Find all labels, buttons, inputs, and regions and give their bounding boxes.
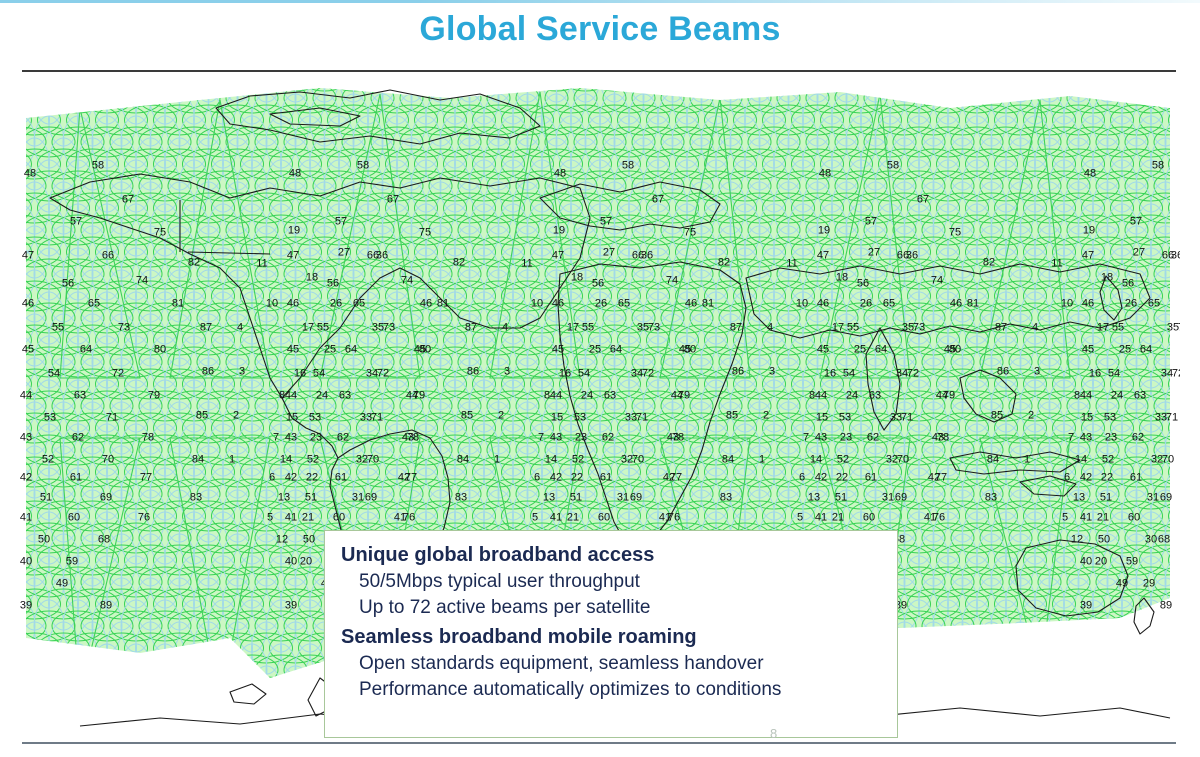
beam-number: 17 [832,323,844,334]
beam-number: 47 [1082,251,1094,262]
beam-number: 22 [836,473,848,484]
beam-number: 71 [371,413,383,424]
beam-number: 1 [229,455,235,466]
beam-number: 62 [602,433,614,444]
beam-number: 52 [307,455,319,466]
beam-number: 46 [950,299,962,310]
beam-number: 14 [1075,455,1087,466]
beam-number: 42 [285,473,297,484]
beam-number: 40 [285,557,297,568]
beam-number: 78 [142,433,154,444]
beam-number: 27 [868,248,880,259]
beam-number: 23 [1105,433,1117,444]
beam-number: 82 [453,258,465,269]
beam-number: 47 [287,251,299,262]
beam-number: 82 [188,258,200,269]
beam-number: 27 [1133,248,1145,259]
beam-number: 15 [816,413,828,424]
beam-number: 48 [554,169,566,180]
beam-number: 10 [531,299,543,310]
beam-number: 69 [1160,493,1172,504]
beam-number: 1 [1024,455,1030,466]
beam-number: 56 [857,279,869,290]
beam-number: 89 [1160,601,1172,612]
beam-number: 66 [102,251,114,262]
beam-number: 48 [289,169,301,180]
beam-number: 85 [991,411,1003,422]
beam-number: 69 [365,493,377,504]
beam-number: 4 [237,323,243,334]
beam-number: 27 [603,248,615,259]
beam-number: 69 [895,493,907,504]
beam-number: 63 [339,391,351,402]
beam-number: 12 [276,535,288,546]
beam-number: 53 [44,413,56,424]
beam-number: 14 [545,455,557,466]
beam-number: 48 [819,169,831,180]
beam-number: 7 [273,433,279,444]
beam-number: 71 [901,413,913,424]
beam-number: 75 [949,228,961,239]
beam-number: 70 [1162,455,1174,466]
beam-number: 16 [559,369,571,380]
beam-number: 31 [617,493,629,504]
beam-number: 6 [269,473,275,484]
beam-number: 73 [383,323,395,334]
beam-number: 41 [550,513,562,524]
beam-number: 48 [1084,169,1096,180]
beam-number: 62 [867,433,879,444]
beam-number: 54 [1108,369,1120,380]
beam-number: 86 [997,367,1009,378]
beam-number: 78 [407,433,419,444]
beam-number: 1 [494,455,500,466]
beam-number: 54 [313,369,325,380]
beam-number: 39 [1080,601,1092,612]
beam-number: 17 [567,323,579,334]
slide-root: Global Service Beams [0,0,1200,757]
beam-number: 82 [718,258,730,269]
beam-number: 7 [1068,433,1074,444]
beam-number: 57 [865,217,877,228]
beam-number: 31 [882,493,894,504]
beam-number: 56 [592,279,604,290]
beam-number: 74 [666,276,678,287]
beam-number: 65 [618,299,630,310]
beam-number: 57 [600,217,612,228]
beam-number: 42 [1080,473,1092,484]
beam-number: 45 [817,345,829,356]
beam-number: 67 [917,195,929,206]
beam-number: 3 [504,367,510,378]
beam-number: 21 [1097,513,1109,524]
beam-number: 63 [1134,391,1146,402]
beam-number: 55 [582,323,594,334]
beam-number: 73 [1178,323,1180,334]
beam-number: 62 [337,433,349,444]
beam-number: 72 [112,369,124,380]
beam-number: 19 [818,226,830,237]
beam-number: 26 [1125,299,1137,310]
beam-number: 87 [995,323,1007,334]
beam-number: 66 [1162,251,1174,262]
beam-number: 52 [837,455,849,466]
beam-number: 5 [267,513,273,524]
beam-number: 21 [832,513,844,524]
beam-number: 18 [1101,273,1113,284]
page-title: Global Service Beams [0,10,1200,49]
beam-number: 46 [22,299,34,310]
beam-number: 72 [642,369,654,380]
beam-number: 22 [571,473,583,484]
beam-number: 50 [38,535,50,546]
info-callout-box: Unique global broadband access 50/5Mbps … [324,530,898,738]
beam-number: 18 [836,273,848,284]
beam-number: 13 [543,493,555,504]
beam-number: 71 [636,413,648,424]
beam-number: 20 [300,557,312,568]
beam-number: 41 [285,513,297,524]
beam-number: 49 [56,579,68,590]
beam-number: 44 [1080,391,1092,402]
beam-number: 67 [387,195,399,206]
beam-number: 61 [600,473,612,484]
beam-number: 39 [285,601,297,612]
beam-number: 65 [883,299,895,310]
beam-number: 79 [148,391,160,402]
beam-number: 53 [839,413,851,424]
info-line-open-standards: Open standards equipment, seamless hando… [359,652,881,677]
beam-number: 17 [302,323,314,334]
beam-number: 26 [595,299,607,310]
beam-number: 58 [622,161,634,172]
beam-number: 75 [154,228,166,239]
beam-number: 20 [1095,557,1107,568]
beam-number: 10 [1061,299,1073,310]
beam-number: 58 [92,161,104,172]
beam-number: 42 [815,473,827,484]
beam-number: 43 [285,433,297,444]
beam-number: 3 [239,367,245,378]
beam-number: 52 [1102,455,1114,466]
beam-number: 57 [1130,217,1142,228]
beam-number: 52 [572,455,584,466]
beam-number: 81 [967,299,979,310]
beam-number: 56 [1122,279,1134,290]
beam-number: 74 [931,276,943,287]
beam-number: 54 [578,369,590,380]
beam-number: 14 [280,455,292,466]
beam-number: 51 [570,493,582,504]
beam-number: 78 [937,433,949,444]
beam-number: 47 [552,251,564,262]
beam-number: 70 [367,455,379,466]
beam-number: 84 [192,455,204,466]
beam-number: 86 [467,367,479,378]
beam-number: 81 [702,299,714,310]
beam-number: 59 [66,557,78,568]
beam-number: 56 [62,279,74,290]
info-line-active-beams: Up to 72 active beams per satellite [359,596,881,621]
beam-number: 47 [817,251,829,262]
beam-number: 57 [70,217,82,228]
beam-number: 16 [824,369,836,380]
beam-number: 62 [1132,433,1144,444]
beam-number: 59 [1126,557,1138,568]
beam-number: 43 [550,433,562,444]
top-accent-bar [0,0,1200,3]
beam-number: 21 [567,513,579,524]
beam-number: 87 [200,323,212,334]
beam-number: 60 [1128,513,1140,524]
beam-number: 11 [521,259,532,270]
beam-number: 64 [875,345,887,356]
beam-number: 60 [598,513,610,524]
beam-number: 11 [786,259,797,270]
beam-number: 6 [1064,473,1070,484]
beam-number: 74 [136,276,148,287]
beam-number: 72 [907,369,919,380]
beam-number: 64 [1140,345,1152,356]
page-number: 8 [770,726,777,741]
beam-number: 19 [553,226,565,237]
beam-number: 5 [1062,513,1068,524]
beam-number: 76 [403,513,415,524]
beam-number: 64 [80,345,92,356]
beam-number: 53 [309,413,321,424]
beam-number: 76 [138,513,150,524]
beam-number: 41 [1080,513,1092,524]
beam-number: 40 [20,557,32,568]
beam-number: 13 [278,493,290,504]
beam-number: 41 [20,513,32,524]
beam-number: 70 [102,455,114,466]
beam-number: 4 [767,323,773,334]
beam-number: 58 [357,161,369,172]
info-heading-mobile-roaming: Seamless broadband mobile roaming [341,625,881,650]
beam-number: 63 [869,391,881,402]
beam-number: 71 [106,413,118,424]
beam-number: 46 [552,299,564,310]
beam-number: 24 [1111,391,1123,402]
beam-number: 26 [860,299,872,310]
beam-number: 2 [233,411,239,422]
beam-number: 19 [1083,226,1095,237]
beam-number: 53 [1104,413,1116,424]
beam-number: 51 [835,493,847,504]
beam-number: 83 [985,493,997,504]
footer-divider [22,742,1176,744]
beam-number: 66 [632,251,644,262]
beam-number: 46 [420,299,432,310]
beam-number: 46 [685,299,697,310]
beam-number: 77 [405,473,417,484]
beam-number: 80 [419,345,431,356]
beam-number: 6 [799,473,805,484]
beam-number: 80 [684,345,696,356]
beam-number: 67 [122,195,134,206]
beam-number: 15 [286,413,298,424]
beam-number: 63 [74,391,86,402]
beam-number: 82 [983,258,995,269]
beam-number: 45 [287,345,299,356]
beam-number: 7 [538,433,544,444]
beam-number: 54 [48,369,60,380]
beam-number: 22 [306,473,318,484]
beam-number: 24 [846,391,858,402]
beam-number: 55 [847,323,859,334]
beam-number: 14 [810,455,822,466]
beam-number: 60 [333,513,345,524]
beam-number: 18 [571,273,583,284]
beam-number: 85 [196,411,208,422]
beam-number: 74 [401,276,413,287]
beam-number: 13 [1073,493,1085,504]
beam-number: 67 [652,195,664,206]
beam-number: 23 [575,433,587,444]
beam-number: 51 [305,493,317,504]
beam-number: 42 [20,473,32,484]
beam-number: 72 [377,369,389,380]
beam-number: 70 [632,455,644,466]
beam-number: 25 [589,345,601,356]
beam-number: 15 [1081,413,1093,424]
beam-number: 84 [457,455,469,466]
beam-number: 60 [863,513,875,524]
beam-number: 79 [413,391,425,402]
beam-number: 76 [668,513,680,524]
beam-number: 65 [353,299,365,310]
beam-number: 4 [1032,323,1038,334]
beam-number: 4 [502,323,508,334]
beam-number: 64 [610,345,622,356]
beam-number: 87 [465,323,477,334]
beam-number: 62 [72,433,84,444]
beam-number: 2 [1028,411,1034,422]
beam-number: 49 [1116,579,1128,590]
beam-number: 51 [1100,493,1112,504]
beam-number: 40 [1080,557,1092,568]
beam-number: 11 [256,259,267,270]
beam-number: 80 [949,345,961,356]
beam-number: 31 [1147,493,1159,504]
beam-number: 55 [317,323,329,334]
beam-number: 45 [22,345,34,356]
beam-number: 5 [532,513,538,524]
beam-number: 61 [335,473,347,484]
beam-number: 54 [843,369,855,380]
beam-number: 39 [20,601,32,612]
beam-number: 2 [763,411,769,422]
beam-number: 13 [808,493,820,504]
beam-number: 23 [310,433,322,444]
beam-number: 42 [550,473,562,484]
beam-number: 61 [865,473,877,484]
beam-number: 58 [887,161,899,172]
beam-number: 23 [840,433,852,444]
beam-number: 83 [455,493,467,504]
beam-number: 25 [324,345,336,356]
beam-number: 69 [630,493,642,504]
beam-number: 61 [70,473,82,484]
beam-number: 11 [1051,259,1062,270]
beam-number: 3 [1034,367,1040,378]
beam-number: 45 [1082,345,1094,356]
beam-number: 25 [1119,345,1131,356]
beam-number: 68 [1158,535,1170,546]
beam-number: 50 [1098,535,1110,546]
beam-number: 24 [316,391,328,402]
beam-number: 75 [419,228,431,239]
beam-number: 44 [285,391,297,402]
beam-number: 53 [574,413,586,424]
beam-number: 51 [40,493,52,504]
beam-number: 73 [648,323,660,334]
beam-number: 77 [935,473,947,484]
beam-number: 16 [1089,369,1101,380]
beam-number: 79 [943,391,955,402]
beam-number: 79 [678,391,690,402]
beam-number: 2 [498,411,504,422]
beam-number: 22 [1101,473,1113,484]
beam-number: 83 [720,493,732,504]
beam-number: 84 [987,455,999,466]
beam-number: 30 [1145,535,1157,546]
beam-number: 46 [287,299,299,310]
beam-number: 26 [330,299,342,310]
beam-number: 27 [338,248,350,259]
beam-number: 81 [437,299,449,310]
beam-number: 78 [672,433,684,444]
beam-number: 46 [817,299,829,310]
beam-number: 68 [98,535,110,546]
beam-number: 1 [759,455,765,466]
beam-number: 80 [154,345,166,356]
beam-number: 43 [1080,433,1092,444]
beam-number: 61 [1130,473,1142,484]
beam-number: 86 [202,367,214,378]
beam-number: 75 [684,228,696,239]
beam-number: 63 [604,391,616,402]
beam-number: 7 [803,433,809,444]
beam-number: 65 [88,299,100,310]
beam-number: 84 [722,455,734,466]
beam-number: 31 [352,493,364,504]
beam-number: 47 [22,251,34,262]
beam-number: 44 [20,391,32,402]
beam-number: 77 [670,473,682,484]
beam-number: 85 [461,411,473,422]
beam-number: 16 [294,369,306,380]
beam-number: 72 [1172,369,1180,380]
beam-number: 65 [1148,299,1160,310]
beam-number: 66 [897,251,909,262]
beam-number: 66 [367,251,379,262]
beam-number: 44 [550,391,562,402]
info-heading-broadband-access: Unique global broadband access [341,543,881,568]
header-divider [22,70,1176,72]
beam-number: 46 [1082,299,1094,310]
beam-number: 41 [815,513,827,524]
beam-number: 21 [302,513,314,524]
beam-number: 10 [796,299,808,310]
beam-number: 58 [1152,161,1164,172]
beam-number: 50 [303,535,315,546]
beam-number: 24 [581,391,593,402]
beam-number: 71 [1166,413,1178,424]
beam-number: 70 [897,455,909,466]
beam-number: 60 [68,513,80,524]
